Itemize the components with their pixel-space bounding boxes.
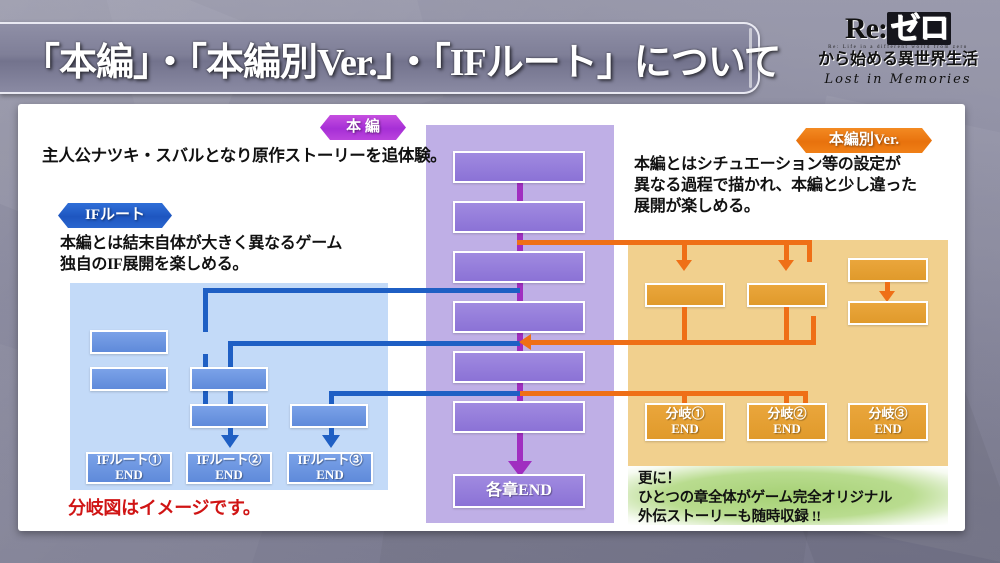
if-end-label-line2: END	[215, 468, 242, 483]
branch-end-label-line2: END	[874, 422, 901, 437]
if-end-label-line1: IFルート③	[297, 453, 362, 468]
branch-end-label-line2: END	[773, 422, 800, 437]
alt-connector	[784, 307, 789, 342]
alt-flow-box	[645, 283, 725, 307]
page-title: 「本編」・「本編別Ver.」・「IFルート」について	[22, 31, 781, 86]
alt-return-line	[811, 316, 816, 342]
branch-end-box: 分岐① END	[645, 403, 725, 441]
if-link-line	[203, 288, 208, 332]
if-end-label-line1: IFルート②	[196, 453, 261, 468]
logo-title-line: Re:ゼロ	[814, 14, 982, 44]
if-end-box: IFルート② END	[186, 452, 272, 484]
branch-end-label-line2: END	[671, 422, 698, 437]
alt-flow-box	[848, 258, 928, 282]
main-connector	[517, 433, 523, 462]
badge-main-story-label: 本 編	[346, 119, 380, 135]
branch-end-label-line1: 分岐③	[868, 407, 907, 422]
logo-lost-in-memories: Lost in Memories	[814, 72, 982, 87]
if-end-label-line2: END	[115, 468, 142, 483]
badge-main-story: 本 編	[320, 115, 406, 140]
title-banner: 「本編」・「本編別Ver.」・「IFルート」について	[0, 22, 760, 94]
alt-arrow-down-icon	[778, 260, 794, 271]
logo-zero-text: ゼロ	[887, 12, 951, 45]
if-flow-box	[90, 330, 168, 354]
alt-version-description-line2: 異なる過程で描かれ、本編と少し違った	[634, 176, 917, 197]
if-end-box: IFルート① END	[86, 452, 172, 484]
badge-if-route-label: IFルート	[85, 207, 145, 223]
if-arrow-down-icon	[322, 435, 340, 448]
main-flow-box	[453, 401, 585, 433]
logo-re-text: Re:	[845, 12, 887, 45]
re-zero-logo: Re:ゼロ Re: Life in a different world from…	[814, 14, 982, 106]
branch-end-box: 分岐③ END	[848, 403, 928, 441]
main-chapter-end-box: 各章END	[453, 474, 585, 508]
alt-version-description: 本編とはシチュエーション等の設定が 異なる過程で描かれ、本編と少し違った 展開が…	[634, 155, 917, 217]
branch-end-label-line1: 分岐①	[665, 407, 704, 422]
if-link-line	[203, 288, 520, 293]
alt-connector	[784, 240, 789, 262]
main-flow-box	[453, 201, 585, 233]
bonus-note-text: 更に！ ひとつの章全体がゲーム完全オリジナル 外伝ストーリーも随時収録 !!	[638, 470, 892, 527]
alt-connector	[628, 391, 808, 396]
if-route-description-line2: 独自のIF展開を楽しめる。	[60, 255, 342, 276]
alt-arrow-left-icon	[519, 334, 531, 350]
if-flow-box	[190, 404, 268, 428]
logo-tagline-en: Re: Life in a different world from zero	[814, 45, 982, 50]
if-connector	[228, 391, 233, 404]
if-flow-box	[90, 367, 168, 391]
if-arrow-down-icon	[221, 435, 239, 448]
main-connector	[517, 183, 523, 201]
slide-canvas: 「本編」・「本編別Ver.」・「IFルート」について Re:ゼロ Re: Lif…	[0, 0, 1000, 563]
logo-subtitle-jp: から始める異世界生活	[814, 51, 982, 69]
disclaimer-note: 分岐図はイメージです。	[68, 494, 261, 520]
if-route-description-line1: 本編とは結末自体が大きく異なるゲーム	[60, 234, 342, 255]
alt-connector	[682, 240, 687, 262]
branch-end-box: 分岐② END	[747, 403, 827, 441]
alt-flow-box	[747, 283, 827, 307]
main-flow-box	[453, 251, 585, 283]
main-flow-box	[453, 151, 585, 183]
if-flow-box	[190, 367, 268, 391]
if-connector	[203, 354, 208, 367]
if-end-label-line2: END	[316, 468, 343, 483]
badge-if-route: IFルート	[58, 203, 172, 228]
main-flow-box	[453, 351, 585, 383]
main-story-description: 主人公ナツキ・スバルとなり原作ストーリーを追体験。	[42, 145, 447, 166]
bonus-note-line3: 外伝ストーリーも随時収録 !!	[638, 508, 892, 527]
main-chapter-end-label: 各章END	[486, 482, 552, 500]
if-link-line	[329, 391, 520, 396]
bonus-note-line1: 更に！	[638, 470, 892, 489]
badge-alt-version-label: 本編別Ver.	[829, 132, 899, 148]
alt-flow-box	[848, 301, 928, 325]
alt-arrow-down-icon	[676, 260, 692, 271]
bonus-note-line2: ひとつの章全体がゲーム完全オリジナル	[638, 489, 892, 508]
badge-alt-version: 本編別Ver.	[796, 128, 932, 153]
alt-return-line	[530, 340, 816, 345]
alt-version-description-line1: 本編とはシチュエーション等の設定が	[634, 155, 917, 176]
main-flow-box	[453, 301, 585, 333]
if-end-label-line1: IFルート①	[96, 453, 161, 468]
if-end-box: IFルート③ END	[287, 452, 373, 484]
branch-end-label-line1: 分岐②	[767, 407, 806, 422]
if-flow-box	[290, 404, 368, 428]
if-route-description: 本編とは結末自体が大きく異なるゲーム 独自のIF展開を楽しめる。	[60, 234, 342, 276]
alt-version-description-line3: 展開が楽しめる。	[634, 197, 917, 218]
if-link-line	[228, 341, 520, 346]
alt-connector	[682, 307, 687, 342]
